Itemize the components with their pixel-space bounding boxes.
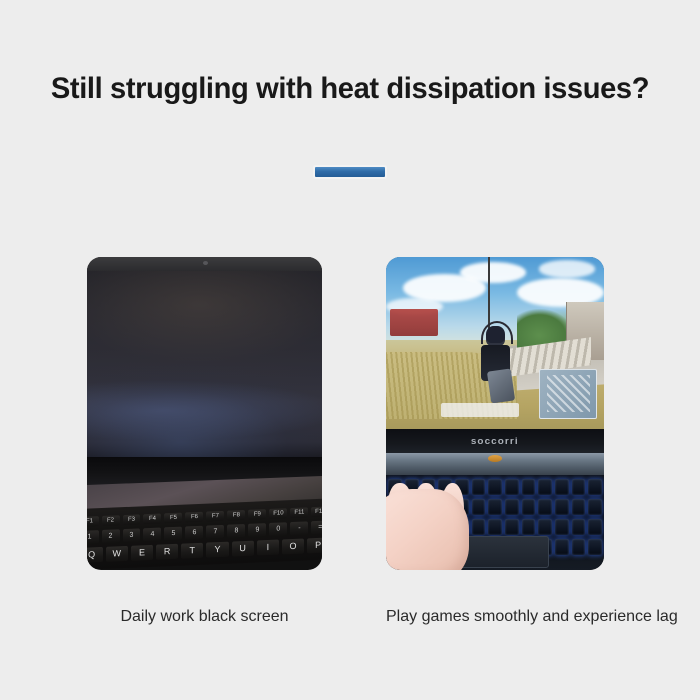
- laptop-keyboard: F1 F2 F3 F4 F5 F6 F7 F8 F9 F10 F11 F12: [87, 498, 322, 570]
- key: [572, 539, 586, 555]
- key: P: [307, 537, 322, 553]
- promo-banner: Still struggling with heat dissipation i…: [0, 0, 700, 700]
- key: [505, 479, 519, 495]
- character-helmet: [486, 326, 505, 347]
- key: [538, 479, 552, 495]
- key: [505, 499, 519, 515]
- caption-row: Daily work black screen Play games smoot…: [0, 606, 700, 634]
- key: [472, 499, 486, 515]
- game-character: [478, 326, 515, 405]
- game-hud-bar: [441, 403, 519, 417]
- key: I: [256, 540, 278, 556]
- key: F6: [185, 512, 203, 523]
- comparison-cards: F1 F2 F3 F4 F5 F6 F7 F8 F9 F10 F11 F12: [0, 257, 700, 570]
- key: [472, 479, 486, 495]
- caption-daily-work: Daily work black screen: [87, 606, 322, 628]
- key: [555, 539, 569, 555]
- key: R: [156, 544, 178, 560]
- cloud-icon: [539, 260, 596, 277]
- key: 6: [185, 526, 203, 540]
- card-gaming: soccorri: [386, 257, 604, 570]
- key: [505, 519, 519, 535]
- webcam-icon: [203, 261, 208, 265]
- key: F5: [164, 513, 182, 524]
- power-button-icon: [488, 455, 502, 462]
- key: [588, 499, 602, 515]
- key: [472, 519, 486, 535]
- key: [488, 479, 502, 495]
- key: [488, 499, 502, 515]
- key: [522, 499, 536, 515]
- key: 4: [143, 528, 161, 542]
- key: 8: [227, 524, 245, 538]
- key: [522, 479, 536, 495]
- key: F12: [311, 506, 322, 517]
- key: [488, 519, 502, 535]
- laptop-bottom-bezel: soccorri: [386, 429, 604, 453]
- key: -: [290, 521, 308, 535]
- screen-glare: [87, 379, 322, 442]
- key: [538, 499, 552, 515]
- key: Y: [206, 542, 228, 558]
- key: F4: [143, 514, 161, 525]
- gaming-laptop-photo: soccorri: [386, 257, 604, 570]
- key: F2: [101, 515, 119, 526]
- caption-gaming: Play games smoothly and experience lag: [386, 606, 604, 628]
- game-red-vehicle: [390, 309, 438, 337]
- blue-accent-bar-icon: [315, 167, 385, 177]
- page-title: Still struggling with heat dissipation i…: [11, 72, 690, 106]
- key: E: [130, 545, 152, 561]
- key: 2: [101, 529, 119, 543]
- key: 1: [87, 530, 98, 544]
- key: [555, 479, 569, 495]
- key: F10: [269, 508, 287, 519]
- key: [572, 479, 586, 495]
- hand-on-keyboard: [386, 489, 469, 570]
- card-daily-work: F1 F2 F3 F4 F5 F6 F7 F8 F9 F10 F11 F12: [87, 257, 322, 570]
- key: =: [311, 520, 322, 534]
- cloud-icon: [460, 262, 525, 283]
- key: F11: [290, 507, 308, 518]
- key: [555, 499, 569, 515]
- key: U: [231, 541, 253, 557]
- key: [572, 519, 586, 535]
- key: 9: [248, 523, 266, 537]
- key: 0: [269, 522, 287, 536]
- key: [538, 519, 552, 535]
- key: F1: [87, 516, 98, 527]
- key: 7: [206, 525, 224, 539]
- key: F3: [122, 514, 140, 525]
- laptop-brand-logo: soccorri: [471, 436, 519, 446]
- key: 3: [122, 528, 140, 542]
- key: O: [282, 539, 304, 555]
- laptop-display-game: [386, 257, 604, 429]
- key: [572, 499, 586, 515]
- key: F7: [206, 511, 224, 522]
- key: T: [181, 543, 203, 559]
- game-minimap: [539, 369, 598, 419]
- laptop-top-bezel: [87, 257, 322, 271]
- laptop-black-screen-photo: F1 F2 F3 F4 F5 F6 F7 F8 F9 F10 F11 F12: [87, 257, 322, 570]
- key: [588, 519, 602, 535]
- divider-container: [0, 166, 700, 178]
- key: 5: [164, 527, 182, 541]
- key: [588, 479, 602, 495]
- key: Q: [87, 547, 102, 563]
- character-weapon: [487, 369, 516, 404]
- key: [555, 519, 569, 535]
- key: F8: [227, 510, 245, 521]
- key: F9: [248, 509, 266, 520]
- key: W: [105, 546, 127, 562]
- laptop-display-black: [87, 271, 322, 457]
- key: [522, 519, 536, 535]
- key: [588, 539, 602, 555]
